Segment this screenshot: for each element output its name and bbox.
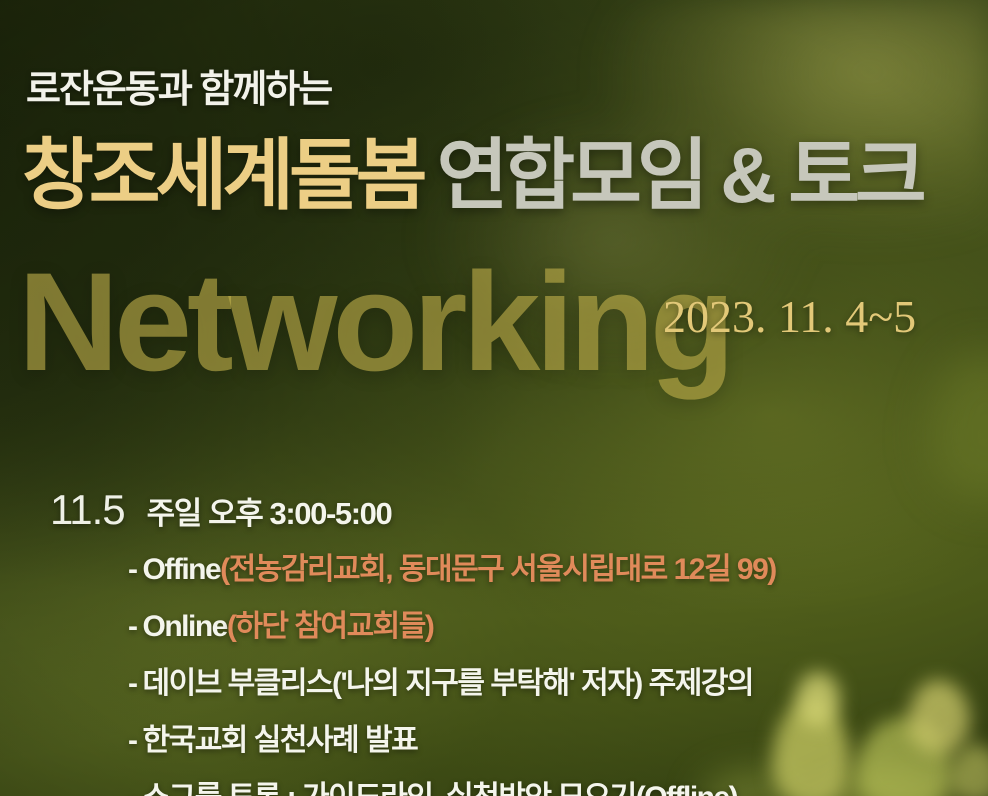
bullet-dash-icon: -: [128, 724, 137, 757]
schedule-item-detail: (전농감리교회, 동대문구 서울시립대로 12길 99): [220, 553, 776, 586]
schedule-item-list: -Offine(전농감리교회, 동대문구 서울시립대로 12길 99) -Onl…: [128, 544, 950, 796]
headline-secondary: 연합모임 & 토크: [437, 131, 922, 219]
schedule-item-label: Offine: [143, 553, 221, 586]
poster-headline: 창조세계돌봄연합모임 & 토크: [22, 136, 922, 214]
schedule-header: 11.5 주일 오후 3:00-5:00: [50, 486, 950, 534]
event-date: 2023. 11. 4~5: [663, 290, 916, 343]
headline-primary: 창조세계돌봄: [22, 131, 423, 219]
schedule-item-label: 한국교회 실천사례 발표: [143, 724, 418, 757]
bullet-dash-icon: -: [128, 553, 137, 586]
poster-kicker: 로잔운동과 함께하는: [26, 58, 331, 113]
schedule-date: 11.5: [50, 486, 125, 534]
schedule-item-label: 데이브 부클리스('나의 지구를 부탁해' 저자) 주제강의: [143, 667, 754, 700]
schedule-item: -Offine(전농감리교회, 동대문구 서울시립대로 12길 99): [128, 544, 950, 588]
schedule-block: 11.5 주일 오후 3:00-5:00 -Offine(전농감리교회, 동대문…: [50, 486, 950, 796]
schedule-item: -데이브 부클리스('나의 지구를 부탁해' 저자) 주제강의: [128, 658, 950, 702]
schedule-item-label: 소그룹 토론 : 가이드라인, 실천방안 모으기(Offline): [143, 781, 738, 796]
bullet-dash-icon: -: [128, 610, 137, 643]
poster-canvas: 로잔운동과 함께하는 창조세계돌봄연합모임 & 토크 Networking 20…: [0, 0, 988, 796]
networking-wordmark: Networking: [18, 252, 730, 392]
schedule-item: -소그룹 토론 : 가이드라인, 실천방안 모으기(Offline): [128, 772, 950, 796]
poster-content: 로잔운동과 함께하는 창조세계돌봄연합모임 & 토크 Networking 20…: [0, 0, 988, 796]
schedule-time: 주일 오후 3:00-5:00: [147, 488, 392, 533]
schedule-item: -Online(하단 참여교회들): [128, 601, 950, 645]
schedule-item-label: Online: [143, 610, 227, 643]
bullet-dash-icon: -: [128, 667, 137, 700]
bullet-dash-icon: -: [128, 781, 137, 796]
schedule-item-detail: (하단 참여교회들): [227, 610, 434, 643]
schedule-item: -한국교회 실천사례 발표: [128, 715, 950, 759]
